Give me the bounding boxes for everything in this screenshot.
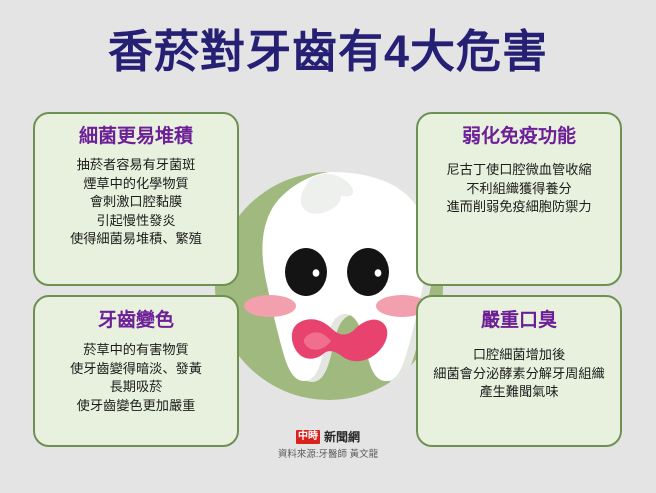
chinatimes-logo: 中時 新聞網 bbox=[0, 430, 656, 444]
card-body-line: 使得細菌易堆積、繁殖 bbox=[35, 230, 237, 249]
sad-tooth-icon bbox=[213, 110, 445, 400]
logo-wordmark: 新聞網 bbox=[324, 431, 360, 444]
card-heading: 細菌更易堆積 bbox=[35, 126, 237, 148]
card-body-line: 產生難聞氣味 bbox=[418, 383, 620, 402]
card-heading: 嚴重口臭 bbox=[418, 310, 620, 332]
source-attribution: 資料來源:牙醫師 黃文龍 bbox=[0, 449, 656, 461]
logo-mark-icon: 中時 bbox=[296, 430, 320, 444]
tooth-left-cheek bbox=[244, 295, 296, 317]
card-heading: 牙齒變色 bbox=[35, 310, 237, 332]
card-body-line: 進而削弱免疫細胞防禦力 bbox=[418, 198, 620, 217]
card-body-line: 會刺激口腔黏膜 bbox=[35, 193, 237, 212]
card-tooth-discoloration: 牙齒變色 菸草中的有害物質 使牙齒變得暗淡、發黃 長期吸菸 使牙齒變色更加嚴重 bbox=[33, 295, 239, 447]
page-title: 香菸對牙齒有4大危害 bbox=[0, 26, 656, 78]
card-body: 口腔細菌增加後 細菌會分泌酵素分解牙周組織 產生難聞氣味 bbox=[418, 346, 620, 402]
card-body-line: 抽菸者容易有牙菌斑 bbox=[35, 156, 237, 175]
card-bacteria-buildup: 細菌更易堆積 抽菸者容易有牙菌斑 煙草中的化學物質 會刺激口腔黏膜 引起慢性發炎… bbox=[33, 112, 239, 286]
tooth-mascot bbox=[215, 172, 443, 404]
card-body-line: 口腔細菌增加後 bbox=[418, 346, 620, 365]
card-body-line: 菸草中的有害物質 bbox=[35, 341, 237, 360]
card-body-line: 使牙齒變得暗淡、發黃 bbox=[35, 360, 237, 379]
card-body: 抽菸者容易有牙菌斑 煙草中的化學物質 會刺激口腔黏膜 引起慢性發炎 使得細菌易堆… bbox=[35, 156, 237, 249]
card-heading: 弱化免疫功能 bbox=[418, 126, 620, 148]
card-body-line: 煙草中的化學物質 bbox=[35, 175, 237, 194]
card-severe-bad-breath: 嚴重口臭 口腔細菌增加後 細菌會分泌酵素分解牙周組織 產生難聞氣味 bbox=[416, 295, 622, 447]
card-body: 尼古丁使口腔微血管收縮 不利組織獲得養分 進而削弱免疫細胞防禦力 bbox=[418, 161, 620, 217]
infographic-canvas: 香菸對牙齒有4大危害 細菌更易堆積 抽菸者 bbox=[0, 0, 656, 493]
card-weakened-immunity: 弱化免疫功能 尼古丁使口腔微血管收縮 不利組織獲得養分 進而削弱免疫細胞防禦力 bbox=[416, 112, 622, 286]
card-body: 菸草中的有害物質 使牙齒變得暗淡、發黃 長期吸菸 使牙齒變色更加嚴重 bbox=[35, 341, 237, 415]
card-body-line: 長期吸菸 bbox=[35, 378, 237, 397]
card-body-line: 使牙齒變色更加嚴重 bbox=[35, 397, 237, 416]
card-body-line: 尼古丁使口腔微血管收縮 bbox=[418, 161, 620, 180]
tooth-right-eye bbox=[347, 248, 389, 296]
footer: 中時 新聞網 資料來源:牙醫師 黃文龍 bbox=[0, 430, 656, 461]
card-body-line: 不利組織獲得養分 bbox=[418, 180, 620, 199]
card-body-line: 引起慢性發炎 bbox=[35, 212, 237, 231]
card-body-line: 細菌會分泌酵素分解牙周組織 bbox=[418, 365, 620, 384]
tooth-left-eye bbox=[285, 248, 327, 296]
